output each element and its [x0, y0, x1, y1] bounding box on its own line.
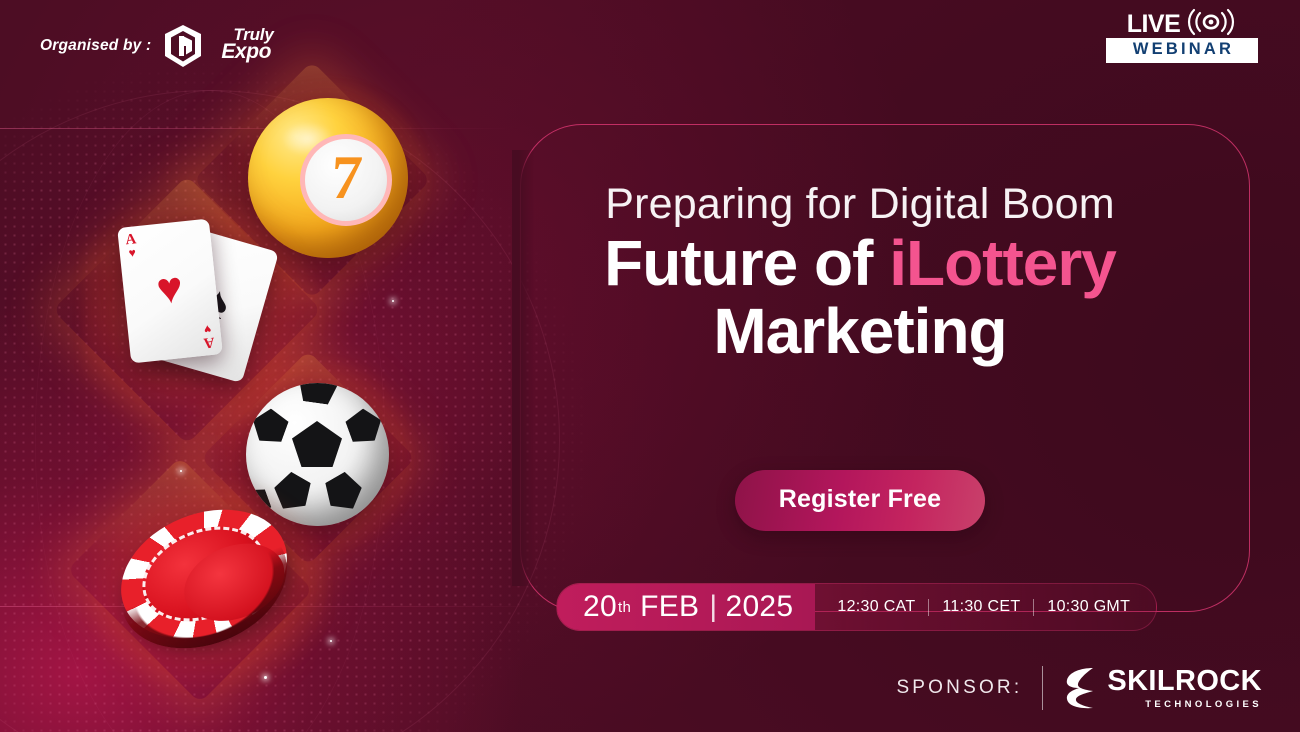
webinar-label: WEBINAR — [1130, 40, 1234, 58]
truly-expo-logo: Truly Expo — [162, 24, 291, 68]
organiser-block: Organised by : Truly Expo — [40, 24, 291, 68]
lottery-ball-icon: 7 — [238, 88, 418, 268]
spade-rank: A — [191, 235, 206, 252]
timezone-divider-1 — [928, 599, 929, 616]
truly-expo-wordmark: Truly Expo — [207, 25, 291, 67]
sparkle-b — [330, 640, 332, 642]
skilrock-tagline: TECHNOLOGIES — [1107, 700, 1262, 710]
lottery-ball-face: 7 — [300, 134, 392, 226]
dotted-globe-background — [0, 60, 590, 732]
ace-of-hearts-card: A♥ ♥ A♥ — [117, 219, 223, 364]
live-row: LIVE — [1106, 10, 1258, 38]
hero-title-accent: iLottery — [889, 227, 1116, 299]
globe-meridian — [35, 90, 385, 732]
webinar-row: WEBINAR — [1106, 38, 1258, 63]
register-free-button[interactable]: Register Free — [735, 470, 985, 531]
diamond-glow-football — [201, 351, 416, 566]
sponsor-label: SPONSOR: — [896, 677, 1022, 699]
decorative-line-bottom — [0, 606, 560, 607]
sponsor-block: SPONSOR: SKILROCK TECHNOLOGIES — [896, 666, 1262, 710]
sparkle-c — [180, 470, 182, 472]
playing-cards-icon: A♠ ♠ A♥ ♥ A♥ — [96, 205, 311, 420]
heart-suit-large: ♥ — [122, 262, 218, 315]
spade-suit-large: ♠ — [166, 269, 267, 337]
schedule-separator: | — [709, 590, 717, 624]
hero-content: Preparing for Digital Boom Future of iLo… — [540, 180, 1180, 366]
webinar-promo-banner: Organised by : Truly Expo LIVE — [0, 0, 1300, 732]
schedule-bar: 20th FEB | 2025 12:30 CAT 11:30 CET 10:3… — [556, 583, 1157, 631]
decorative-line-top — [0, 128, 520, 129]
lightning-bolt-icon — [1063, 666, 1097, 710]
date-pill: 20th FEB | 2025 — [557, 584, 815, 630]
sparkle-d — [392, 300, 394, 302]
timezone-divider-2 — [1033, 599, 1034, 616]
cta-area: Register Free — [540, 470, 1180, 531]
logo-text-expo: Expo — [221, 40, 271, 64]
poker-chip-icon — [104, 500, 304, 665]
lottery-ball-number: 7 — [328, 147, 363, 209]
heart-rank: A — [125, 232, 137, 248]
heart-suit-small: ♥ — [126, 246, 138, 259]
hero-title-line1: Future of iLottery — [540, 231, 1180, 297]
diamond-glow-cards — [53, 176, 322, 445]
heart-rank-bottom: A — [203, 334, 215, 350]
sparkle-a — [264, 676, 267, 679]
hero-title-line2: Marketing — [540, 297, 1180, 366]
broadcast-icon — [1185, 8, 1237, 41]
live-webinar-badge: LIVE WEBINAR — [1106, 10, 1258, 63]
skilrock-logo: SKILROCK TECHNOLOGIES — [1063, 666, 1262, 710]
diamond-glow-ball — [193, 61, 431, 299]
timezone-cat: 12:30 CAT — [837, 598, 915, 616]
hero-title-white: Future of — [604, 227, 889, 299]
soccer-ball-icon — [238, 375, 398, 535]
timezone-list: 12:30 CAT 11:30 CET 10:30 GMT — [815, 584, 1156, 630]
live-label: LIVE — [1127, 12, 1181, 37]
hero-kicker: Preparing for Digital Boom — [540, 180, 1180, 229]
sponsor-divider — [1042, 666, 1043, 710]
ace-of-spades-card: A♠ ♠ — [153, 227, 279, 383]
organised-by-label: Organised by : — [40, 37, 151, 55]
schedule-day: 20 — [583, 590, 617, 624]
schedule-year: 2025 — [725, 590, 793, 624]
timezone-gmt: 10:30 GMT — [1047, 598, 1130, 616]
skilrock-wordmark: SKILROCK TECHNOLOGIES — [1107, 667, 1262, 710]
schedule-day-suffix: th — [618, 599, 631, 616]
schedule-month: FEB — [640, 590, 699, 624]
spade-suit-small: ♠ — [188, 248, 202, 263]
skilrock-name: SKILROCK — [1107, 667, 1262, 696]
diamond-glow-chip — [67, 457, 313, 703]
timezone-cet: 11:30 CET — [942, 598, 1020, 616]
truly-expo-mark-icon — [162, 24, 204, 68]
globe-outline — [0, 90, 560, 732]
frame-fade-mask — [512, 150, 534, 586]
heart-suit-bottom: ♥ — [202, 323, 214, 336]
